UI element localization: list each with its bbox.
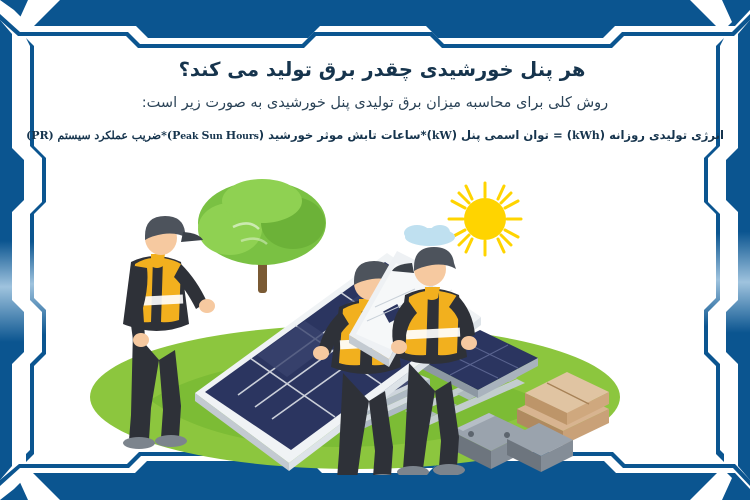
tree-icon <box>198 179 326 293</box>
psh-ours: ours <box>236 131 259 142</box>
formula-term3-label: ضریب عملکرد سیستم <box>58 129 162 142</box>
formula-term1-unit: kW <box>432 129 452 142</box>
psh-un: un <box>209 131 225 142</box>
page-title: هر پنل خورشیدی چقدر برق تولید می کند؟ <box>0 58 750 82</box>
formula-term3-unit: PR <box>31 129 48 142</box>
cloud-icon <box>404 225 455 246</box>
frame-top-bar <box>0 0 750 48</box>
infographic-banner: هر پنل خورشیدی چقدر برق تولید می کند؟ رو… <box>0 0 750 500</box>
solar-installation-illustration <box>55 175 695 475</box>
formula-line: انرژی تولیدی روزانه (kWh) = توان اسمی پن… <box>0 128 750 143</box>
psh-h: H <box>226 129 236 142</box>
psh-p: P <box>172 129 180 142</box>
formula-output-label: انرژی تولیدی روزانه <box>609 128 724 142</box>
formula-output-unit: kWh <box>572 129 600 142</box>
sun-icon <box>449 183 521 255</box>
formula-multiply-1: * <box>421 128 427 142</box>
psh-eak: eak <box>180 131 201 142</box>
formula-equals: = <box>553 128 563 142</box>
subtitle: روش کلی برای محاسبه میزان برق تولیدی پنل… <box>0 94 750 114</box>
text-block: هر پنل خورشیدی چقدر برق تولید می کند؟ رو… <box>0 58 750 143</box>
formula-multiply-2: * <box>161 129 167 142</box>
formula-term2-label: ساعات تابش موثر خورشید <box>268 128 420 142</box>
formula-term1-label: توان اسمی پنل <box>461 128 549 142</box>
